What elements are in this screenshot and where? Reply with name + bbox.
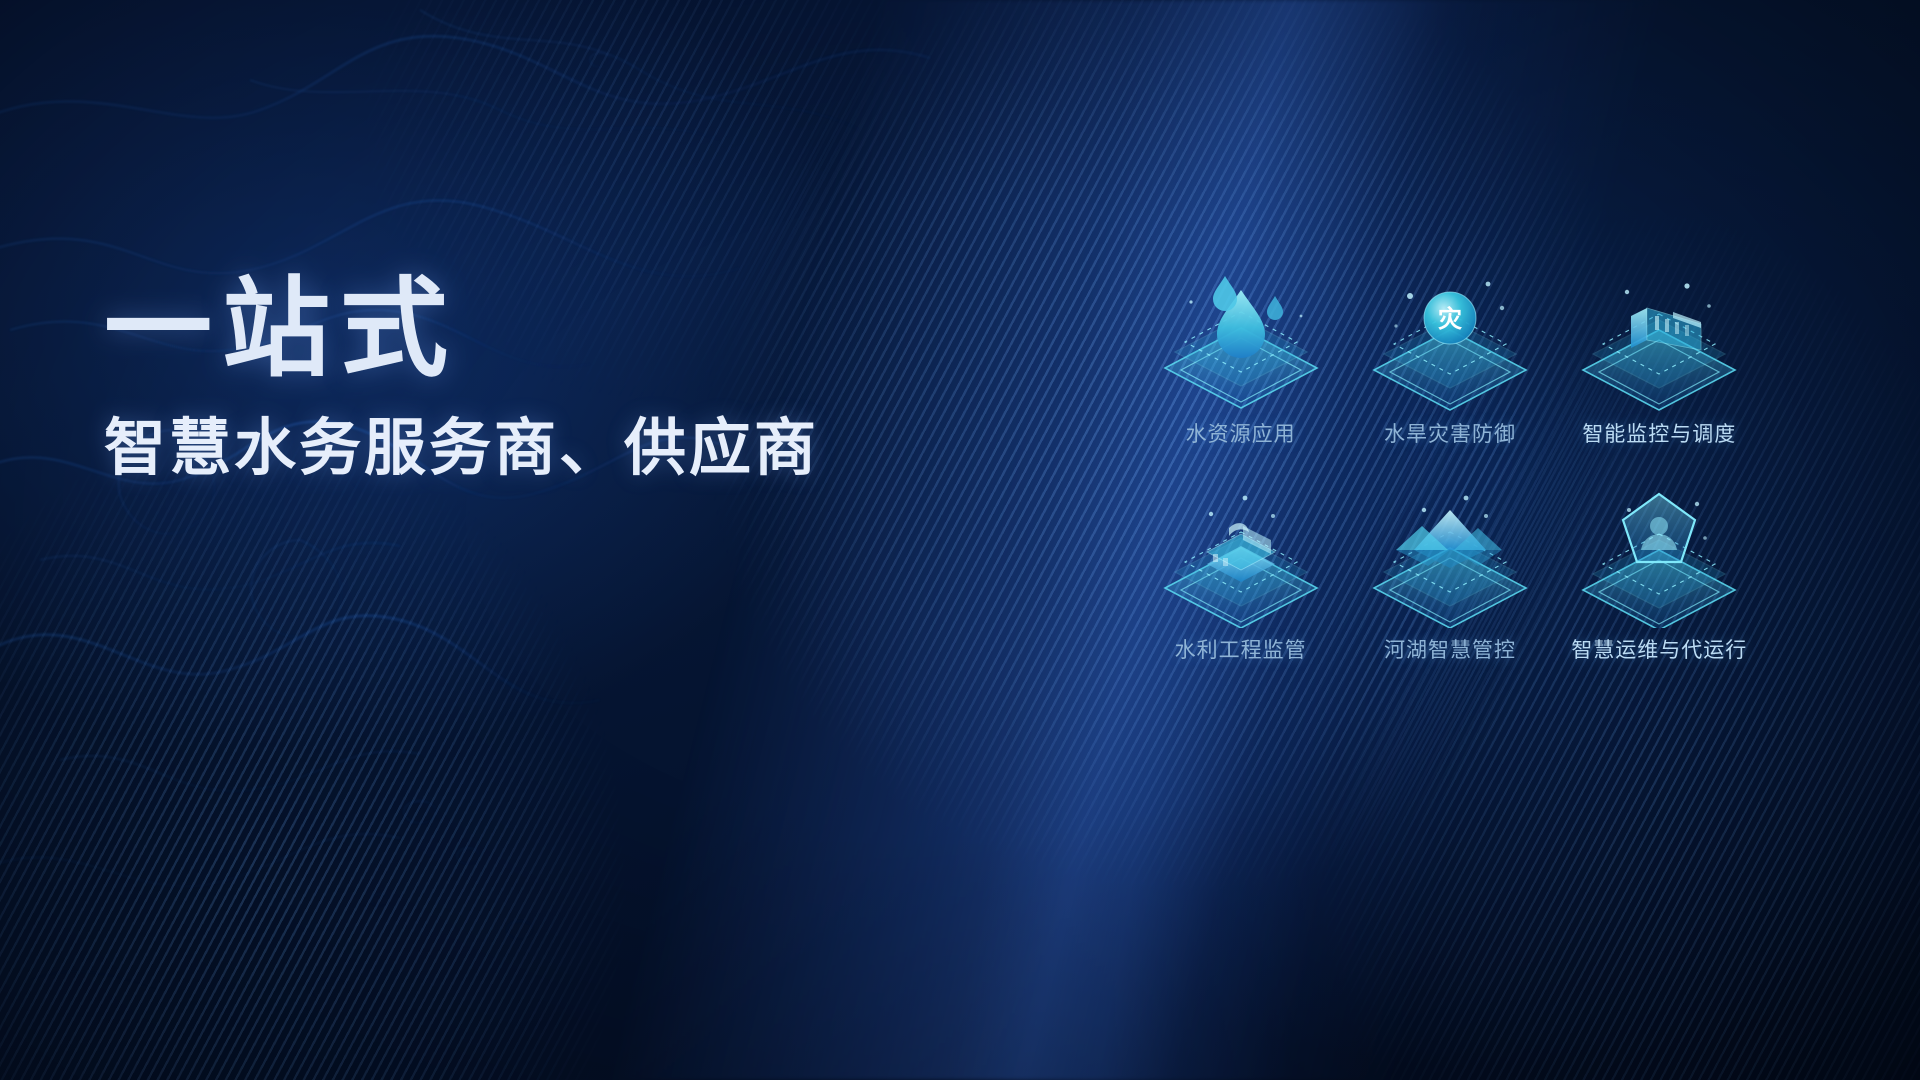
page-title: 一站式 (104, 272, 964, 386)
disaster-glyph: 灾 (1438, 305, 1462, 333)
dam-gate-icon (1569, 272, 1749, 412)
water-drop-icon (1151, 272, 1331, 412)
page-subtitle: 智慧水务服务商、供应商 (104, 412, 964, 485)
capability-label: 水利工程监管 (1175, 634, 1307, 664)
pentagon-shield-icon (1569, 488, 1749, 628)
headline-block: 一站式 智慧水务服务商、供应商 (104, 272, 964, 486)
capability-label: 智能监控与调度 (1582, 418, 1736, 448)
capability-grid: 水资源应用 (1140, 272, 1760, 664)
capability-card-smart-ops[interactable]: 智慧运维与代运行 (1559, 488, 1760, 664)
capability-card-disaster-defense[interactable]: 灾 水旱灾害防御 (1349, 272, 1550, 448)
pump-station-icon (1151, 488, 1331, 628)
river-mountain-icon (1360, 488, 1540, 628)
hero-banner: 一站式 智慧水务服务商、供应商 (0, 0, 1920, 1080)
capability-label: 智慧运维与代运行 (1571, 634, 1747, 664)
capability-card-river-lake-control[interactable]: 河湖智慧管控 (1349, 488, 1550, 664)
capability-card-project-supervision[interactable]: 水利工程监管 (1140, 488, 1341, 664)
capability-card-water-resource[interactable]: 水资源应用 (1140, 272, 1341, 448)
capability-label: 河湖智慧管控 (1384, 634, 1516, 664)
capability-label: 水旱灾害防御 (1384, 418, 1516, 448)
disaster-sphere-icon: 灾 (1360, 272, 1540, 412)
capability-label: 水资源应用 (1186, 418, 1296, 448)
capability-card-monitor-dispatch[interactable]: 智能监控与调度 (1559, 272, 1760, 448)
